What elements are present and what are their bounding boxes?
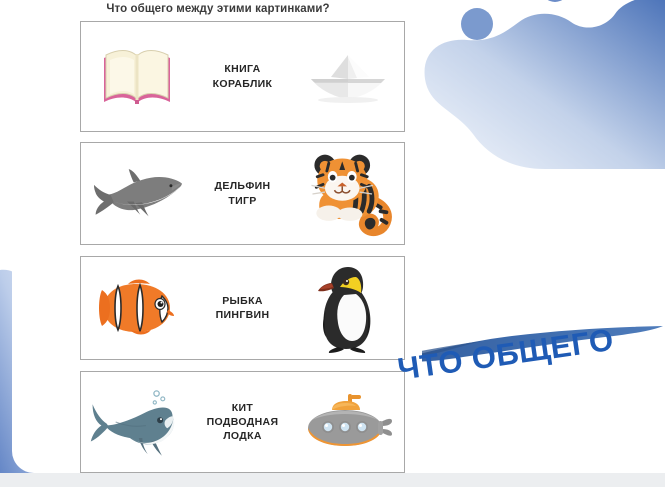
content-card: Что общего между этими картинками? xyxy=(12,0,422,473)
table-row[interactable]: РЫБКА ПИНГВИН xyxy=(80,256,405,360)
table-row[interactable]: ДЕЛЬФИН ТИГР xyxy=(80,142,405,245)
paper-boat-icon xyxy=(300,22,396,131)
tiger-icon xyxy=(300,143,396,244)
row-label: КНИГА КОРАБЛИК xyxy=(185,62,300,90)
table-row[interactable]: КНИГА КОРАБЛИК xyxy=(80,21,405,132)
slide-canvas: Что общего между этими картинками? xyxy=(0,0,665,487)
clownfish-icon xyxy=(89,257,185,359)
row-label: ДЕЛЬФИН ТИГР xyxy=(185,179,300,207)
submarine-icon xyxy=(300,372,396,472)
whale-icon xyxy=(89,372,185,472)
open-book-icon xyxy=(89,22,185,131)
row-label: КИТ ПОДВОДНАЯ ЛОДКА xyxy=(185,401,300,444)
decorative-circle xyxy=(461,8,493,40)
row-label: РЫБКА ПИНГВИН xyxy=(185,294,300,322)
dolphin-icon xyxy=(89,143,185,244)
decorative-circle xyxy=(541,0,569,2)
penguin-icon xyxy=(300,257,396,359)
table-row[interactable]: КИТ ПОДВОДНАЯ ЛОДКА xyxy=(80,371,405,473)
overlay-wordart: ЧТО ОБЩЕГО xyxy=(395,322,616,388)
decorative-blob-top-right xyxy=(415,0,665,169)
bottom-strip xyxy=(0,473,665,487)
page-title: Что общего между этими картинками? xyxy=(24,3,412,15)
